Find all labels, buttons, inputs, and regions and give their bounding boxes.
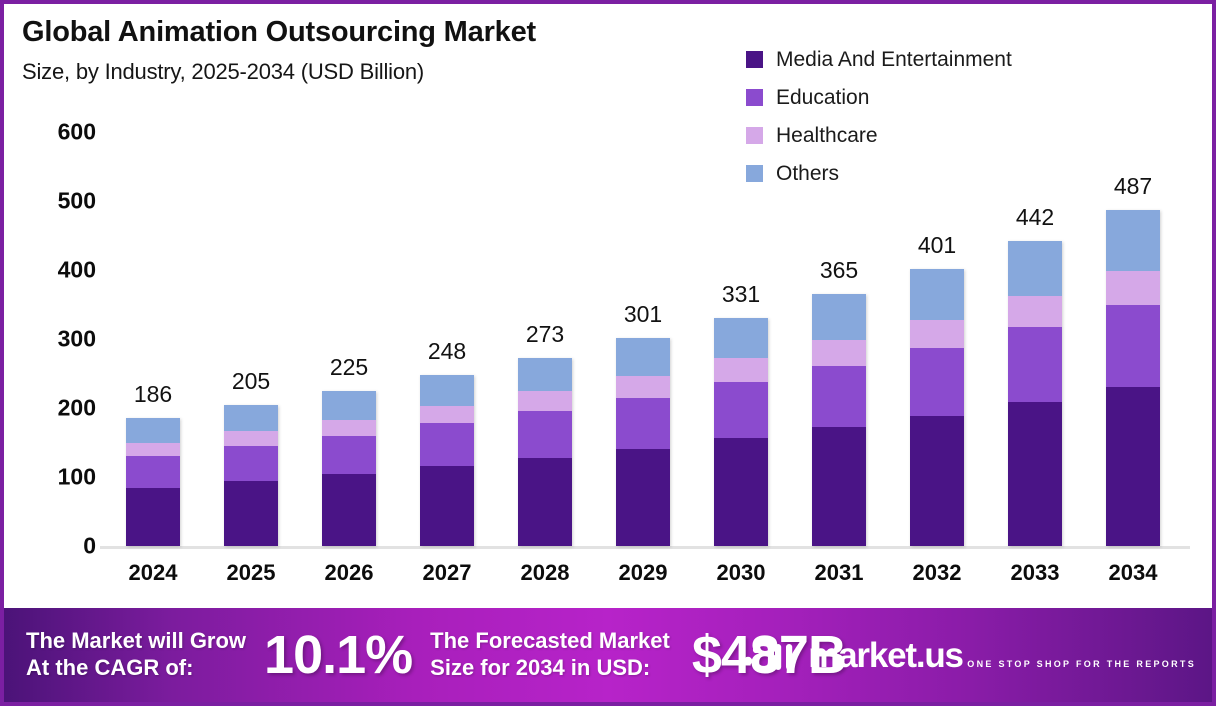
footer-banner: The Market will Grow At the CAGR of: 10.… bbox=[4, 608, 1212, 702]
bar-segment[interactable] bbox=[714, 438, 768, 546]
stacked-bar[interactable] bbox=[812, 294, 866, 546]
bar-total-label: 205 bbox=[202, 368, 300, 395]
bar-segment[interactable] bbox=[812, 427, 866, 546]
bar-segment[interactable] bbox=[518, 391, 572, 410]
x-axis-tick-label: 2027 bbox=[398, 560, 496, 586]
bar-segment[interactable] bbox=[714, 318, 768, 359]
x-axis-tick-label: 2025 bbox=[202, 560, 300, 586]
bar-group[interactable]: 2052025 bbox=[202, 4, 300, 604]
bar-segment[interactable] bbox=[224, 405, 278, 432]
bar-segment[interactable] bbox=[1008, 296, 1062, 327]
bar-segment[interactable] bbox=[812, 294, 866, 340]
bar-segment[interactable] bbox=[126, 443, 180, 456]
bar-segment[interactable] bbox=[714, 358, 768, 381]
bar-group[interactable]: 4872034 bbox=[1084, 4, 1182, 604]
bar-segment[interactable] bbox=[812, 366, 866, 427]
bar-group[interactable]: 1862024 bbox=[104, 4, 202, 604]
market-us-logo[interactable]: market.us ONE STOP SHOP FOR THE REPORTS bbox=[742, 634, 1196, 676]
bar-segment[interactable] bbox=[616, 338, 670, 376]
stacked-bar[interactable] bbox=[224, 405, 278, 546]
bar-group[interactable]: 2732028 bbox=[496, 4, 594, 604]
bar-total-label: 365 bbox=[790, 257, 888, 284]
bar-total-label: 248 bbox=[398, 338, 496, 365]
stacked-bar[interactable] bbox=[420, 375, 474, 546]
logo-wordmark: market.us ONE STOP SHOP FOR THE REPORTS bbox=[808, 638, 1196, 673]
bar-total-label: 225 bbox=[300, 354, 398, 381]
bar-segment[interactable] bbox=[420, 375, 474, 406]
bar-segment[interactable] bbox=[616, 398, 670, 449]
bar-total-label: 273 bbox=[496, 321, 594, 348]
forecast-label-line2: Size for 2034 in USD: bbox=[430, 655, 650, 680]
logo-tagline: ONE STOP SHOP FOR THE REPORTS bbox=[967, 659, 1196, 669]
stacked-bar[interactable] bbox=[322, 391, 376, 546]
x-axis-tick-label: 2032 bbox=[888, 560, 986, 586]
stacked-bar[interactable] bbox=[1106, 210, 1160, 546]
bar-group[interactable]: 4422033 bbox=[986, 4, 1084, 604]
bar-total-label: 301 bbox=[594, 301, 692, 328]
bar-segment[interactable] bbox=[1008, 327, 1062, 402]
x-axis-tick-label: 2030 bbox=[692, 560, 790, 586]
cagr-label-line2: At the CAGR of: bbox=[26, 655, 193, 680]
bar-segment[interactable] bbox=[812, 340, 866, 366]
bar-segment[interactable] bbox=[224, 446, 278, 481]
infographic-root: Global Animation Outsourcing Market Size… bbox=[0, 0, 1216, 706]
cagr-label: The Market will Grow At the CAGR of: bbox=[26, 628, 246, 682]
logo-name: market.us bbox=[808, 636, 963, 675]
bar-group[interactable]: 4012032 bbox=[888, 4, 986, 604]
x-axis-tick-label: 2031 bbox=[790, 560, 888, 586]
bar-segment[interactable] bbox=[322, 436, 376, 475]
bar-segment[interactable] bbox=[322, 474, 376, 546]
x-axis-tick-label: 2029 bbox=[594, 560, 692, 586]
x-axis-tick-label: 2033 bbox=[986, 560, 1084, 586]
bar-segment[interactable] bbox=[322, 420, 376, 436]
bar-group[interactable]: 3652031 bbox=[790, 4, 888, 604]
bar-segment[interactable] bbox=[910, 269, 964, 319]
stacked-bar[interactable] bbox=[910, 269, 964, 546]
bar-segment[interactable] bbox=[322, 391, 376, 420]
x-axis-tick-label: 2028 bbox=[496, 560, 594, 586]
bar-group[interactable]: 3312030 bbox=[692, 4, 790, 604]
bar-group[interactable]: 2482027 bbox=[398, 4, 496, 604]
chart-plot-area: 0100200300400500600 18620242052025225202… bbox=[4, 4, 1212, 604]
bar-segment[interactable] bbox=[910, 416, 964, 546]
x-axis-tick-label: 2024 bbox=[104, 560, 202, 586]
forecast-label: The Forecasted Market Size for 2034 in U… bbox=[430, 628, 670, 682]
bar-segment[interactable] bbox=[1008, 402, 1062, 546]
bar-segment[interactable] bbox=[1008, 241, 1062, 296]
bar-segment[interactable] bbox=[126, 456, 180, 488]
bar-segment[interactable] bbox=[518, 358, 572, 392]
stacked-bar[interactable] bbox=[518, 358, 572, 546]
bar-total-label: 401 bbox=[888, 232, 986, 259]
bar-segment[interactable] bbox=[518, 411, 572, 458]
bar-segment[interactable] bbox=[518, 458, 572, 546]
cagr-value: 10.1% bbox=[264, 628, 412, 682]
bar-segment[interactable] bbox=[1106, 210, 1160, 271]
market-us-logo-icon bbox=[742, 634, 798, 676]
bar-total-label: 186 bbox=[104, 381, 202, 408]
cagr-label-line1: The Market will Grow bbox=[26, 628, 246, 653]
bar-total-label: 487 bbox=[1084, 173, 1182, 200]
bar-segment[interactable] bbox=[616, 449, 670, 546]
bar-segment[interactable] bbox=[224, 481, 278, 546]
bar-segment[interactable] bbox=[1106, 387, 1160, 546]
x-axis-tick-label: 2034 bbox=[1084, 560, 1182, 586]
bar-total-label: 442 bbox=[986, 204, 1084, 231]
stacked-bar[interactable] bbox=[616, 338, 670, 546]
bar-segment[interactable] bbox=[420, 423, 474, 466]
x-axis-tick-label: 2026 bbox=[300, 560, 398, 586]
bar-segment[interactable] bbox=[910, 348, 964, 416]
bar-segment[interactable] bbox=[420, 406, 474, 423]
bar-segment[interactable] bbox=[126, 418, 180, 443]
stacked-bar[interactable] bbox=[1008, 241, 1062, 546]
bar-segment[interactable] bbox=[224, 431, 278, 445]
stacked-bar[interactable] bbox=[126, 418, 180, 546]
bar-segment[interactable] bbox=[1106, 305, 1160, 387]
bar-group[interactable]: 3012029 bbox=[594, 4, 692, 604]
bar-segment[interactable] bbox=[616, 376, 670, 397]
stacked-bar[interactable] bbox=[714, 318, 768, 546]
bar-series-layer: 1862024205202522520262482027273202830120… bbox=[4, 4, 1212, 604]
bar-group[interactable]: 2252026 bbox=[300, 4, 398, 604]
forecast-label-line1: The Forecasted Market bbox=[430, 628, 670, 653]
bar-segment[interactable] bbox=[126, 488, 180, 546]
bar-segment[interactable] bbox=[910, 320, 964, 348]
bar-segment[interactable] bbox=[420, 466, 474, 546]
bar-total-label: 331 bbox=[692, 281, 790, 308]
bar-segment[interactable] bbox=[1106, 271, 1160, 306]
bar-segment[interactable] bbox=[714, 382, 768, 439]
